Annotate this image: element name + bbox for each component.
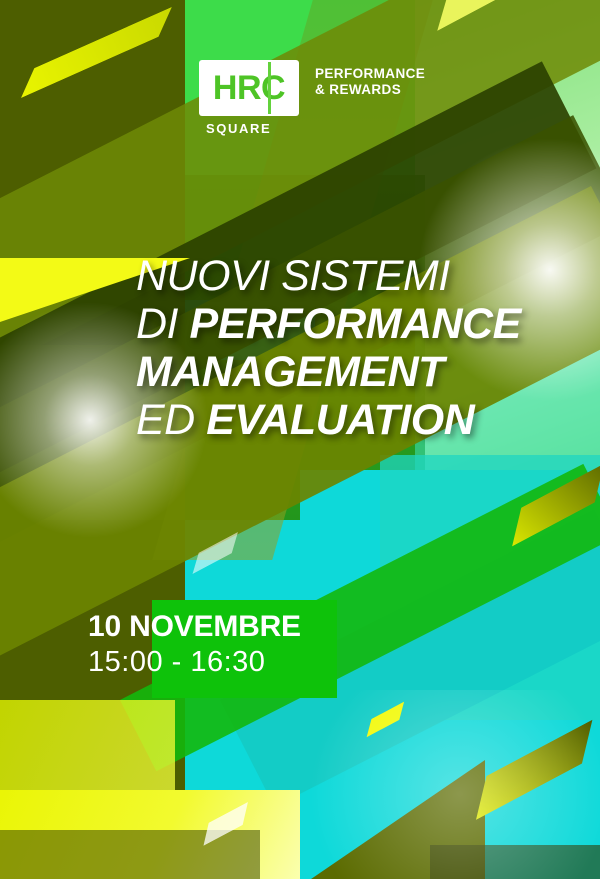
headline-line2-bold: PERFORMANCE: [189, 300, 520, 348]
event-date: 10 NOVEMBRE: [88, 611, 301, 643]
brand-tagline: PERFORMANCE & REWARDS: [315, 60, 425, 99]
brand-tagline-line1: PERFORMANCE: [315, 66, 425, 82]
hrc-logo-divider: [268, 62, 271, 114]
headline-line4-bold: EVALUATION: [206, 396, 474, 444]
hrc-logo-text: HRC: [213, 71, 285, 105]
brand-lockup: HRC PERFORMANCE & REWARDS: [199, 60, 425, 116]
page-title: NUOVI SISTEMI DI PERFORMANCE MANAGEMENT …: [136, 252, 556, 445]
headline-line-2: DI PERFORMANCE: [136, 300, 556, 348]
headline-line2-light: DI: [136, 300, 178, 348]
hrc-logo-mark: HRC: [199, 60, 299, 116]
event-poster: HRC PERFORMANCE & REWARDS SQUARE NUOVI S…: [0, 0, 600, 879]
headline-line4-light: ED: [136, 396, 195, 444]
event-date-block: 10 NOVEMBRE 15:00 - 16:30: [88, 611, 301, 678]
poster-content: HRC PERFORMANCE & REWARDS SQUARE NUOVI S…: [0, 0, 600, 879]
headline-line1-light: NUOVI SISTEMI: [136, 252, 450, 300]
headline-line-3: MANAGEMENT: [136, 348, 556, 396]
headline-line-4: ED EVALUATION: [136, 396, 556, 444]
headline-line-1: NUOVI SISTEMI: [136, 252, 556, 300]
brand-sub-text: SQUARE: [206, 121, 271, 136]
brand-tagline-line2: & REWARDS: [315, 82, 425, 98]
headline-line3-bold: MANAGEMENT: [136, 348, 444, 396]
event-time: 15:00 - 16:30: [88, 647, 301, 679]
